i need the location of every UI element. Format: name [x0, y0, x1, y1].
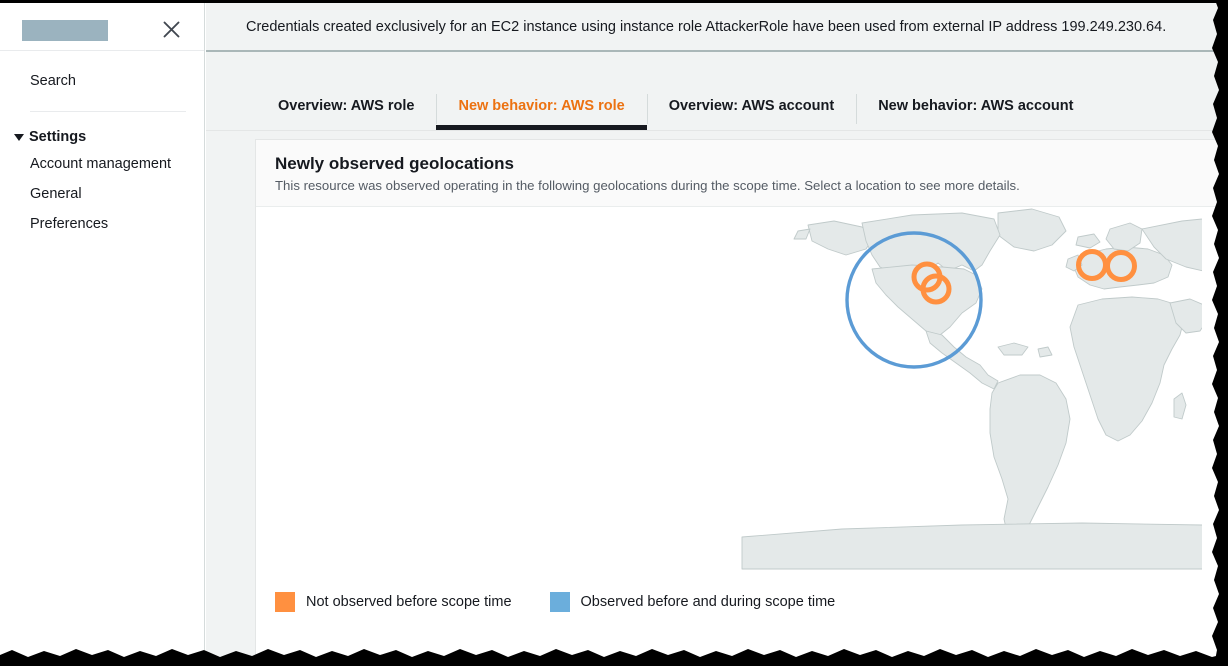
- sidebar: Search Settings Account management Gener…: [0, 3, 205, 650]
- tab-overview-aws-role[interactable]: Overview: AWS role: [256, 98, 436, 130]
- card-subtitle: This resource was observed operating in …: [275, 178, 1228, 193]
- sidebar-item-general[interactable]: General: [0, 175, 204, 205]
- sidebar-group-label: Settings: [29, 129, 86, 145]
- tab-overview-aws-account[interactable]: Overview: AWS account: [647, 98, 856, 130]
- map-legend: Not observed before scope time Observed …: [256, 578, 1228, 612]
- finding-header-bar: Credentials created exclusively for an E…: [206, 3, 1228, 52]
- sidebar-item-account-management[interactable]: Account management: [0, 145, 204, 175]
- legend-swatch-blue: [550, 592, 570, 612]
- tab-bar: Overview: AWS role New behavior: AWS rol…: [206, 52, 1228, 131]
- tab-new-behavior-aws-account[interactable]: New behavior: AWS account: [856, 98, 1095, 130]
- legend-label-not-observed: Not observed before scope time: [306, 594, 512, 610]
- sidebar-header: [0, 3, 204, 51]
- world-map[interactable]: [256, 207, 1228, 578]
- legend-label-observed: Observed before and during scope time: [581, 594, 836, 610]
- legend-item-not-observed: Not observed before scope time: [275, 592, 512, 612]
- main-content: Credentials created exclusively for an E…: [206, 3, 1228, 666]
- sidebar-item-preferences[interactable]: Preferences: [0, 205, 204, 235]
- world-map-svg[interactable]: [442, 207, 1202, 578]
- finding-description: Credentials created exclusively for an E…: [246, 19, 1166, 35]
- screenshot-root: Search Settings Account management Gener…: [0, 0, 1228, 666]
- sidebar-divider: [30, 111, 186, 112]
- legend-swatch-orange: [275, 592, 295, 612]
- caret-down-icon: [14, 134, 24, 141]
- tab-new-behavior-aws-role[interactable]: New behavior: AWS role: [436, 98, 646, 130]
- legend-item-observed: Observed before and during scope time: [550, 592, 836, 612]
- torn-edge-top: [0, 0, 1228, 3]
- sidebar-item-search[interactable]: Search: [0, 51, 204, 89]
- page-title: Newly observed geolocations: [275, 154, 1228, 174]
- geolocations-card: Newly observed geolocations This resourc…: [255, 139, 1228, 666]
- redacted-title-block: [22, 20, 108, 41]
- card-header: Newly observed geolocations This resourc…: [256, 140, 1228, 207]
- sidebar-group-settings[interactable]: Settings: [0, 129, 204, 145]
- torn-edge-right: [1206, 0, 1228, 666]
- close-icon[interactable]: [158, 16, 184, 42]
- torn-edge-bottom: [0, 644, 1228, 666]
